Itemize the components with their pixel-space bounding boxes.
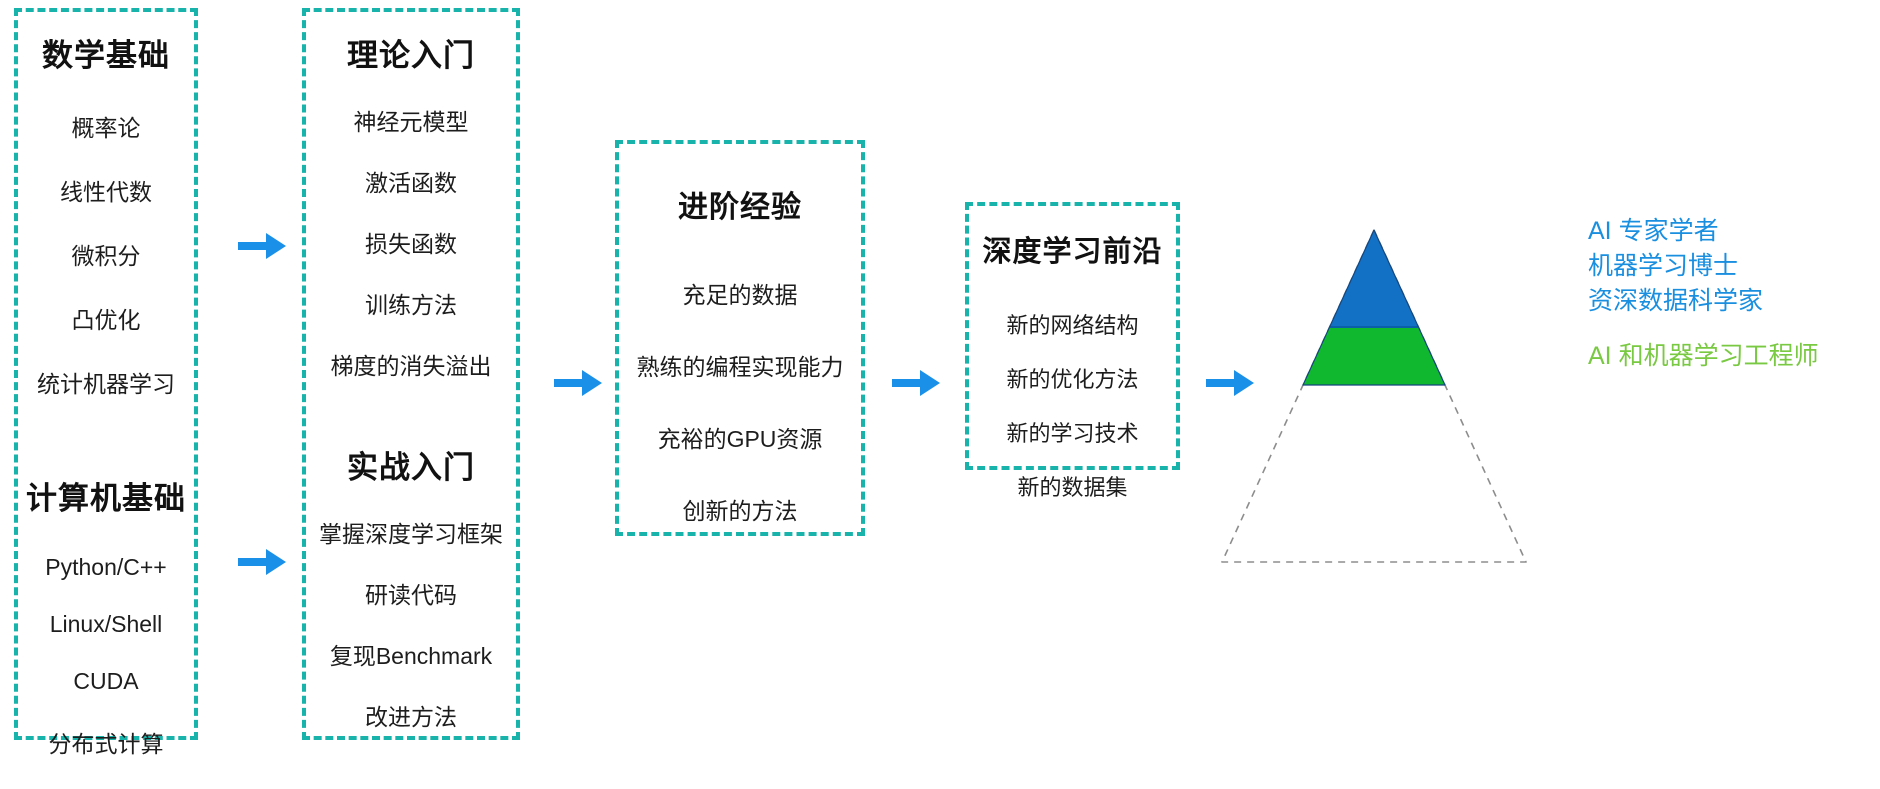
group-title-math: 数学基础 (42, 30, 170, 75)
stage-box-advanced[interactable]: 进阶经验 充足的数据 熟练的编程实现能力 充裕的GPU资源 创新的方法 (615, 140, 865, 536)
list-item: 充裕的GPU资源 (658, 420, 823, 454)
arrow-right-icon (552, 363, 604, 403)
role-label: AI 和机器学习工程师 (1588, 339, 1878, 374)
role-label: 资深数据科学家 (1588, 284, 1878, 319)
list-item: 线性代数 (60, 173, 152, 207)
list-item: 新的优化方法 (1006, 362, 1138, 394)
group-theory-intro: 理论入门 神经元模型 激活函数 损失函数 训练方法 梯度的消失溢出 (306, 30, 516, 408)
group-title-theory: 理论入门 (347, 30, 475, 75)
arrow-right-icon (236, 226, 288, 266)
list-item: 训练方法 (365, 286, 457, 320)
group-math-foundation: 数学基础 概率论 线性代数 微积分 凸优化 统计机器学习 (18, 30, 194, 429)
list-item: CUDA (73, 668, 138, 695)
list-item: 神经元模型 (354, 103, 469, 137)
arrow-right-icon (890, 363, 942, 403)
list-item: 研读代码 (365, 576, 457, 610)
list-item: 创新的方法 (683, 492, 798, 526)
list-item: 新的网络结构 (1006, 308, 1138, 340)
list-item: 概率论 (72, 109, 141, 143)
group-title-advanced: 进阶经验 (678, 182, 802, 226)
group-cs-foundation: 计算机基础 Python/C++ Linux/Shell CUDA 分布式计算 (18, 473, 194, 789)
list-item: 损失函数 (365, 225, 457, 259)
list-item: 新的学习技术 (1006, 416, 1138, 448)
stage-box-foundation[interactable]: 数学基础 概率论 线性代数 微积分 凸优化 统计机器学习 计算机基础 Pytho… (14, 8, 198, 740)
group-title-practice: 实战入门 (347, 442, 475, 487)
group-practice-intro: 实战入门 掌握深度学习框架 研读代码 复现Benchmark 改进方法 (306, 442, 516, 759)
list-item: 复现Benchmark (330, 637, 492, 671)
role-label: 机器学习博士 (1588, 249, 1878, 284)
list-item: 统计机器学习 (37, 365, 175, 399)
arrow-right-icon (236, 542, 288, 582)
list-item: 微积分 (72, 237, 141, 271)
list-item: 熟练的编程实现能力 (637, 348, 844, 382)
stage-box-frontier[interactable]: 深度学习前沿 新的网络结构 新的优化方法 新的学习技术 新的数据集 (965, 202, 1180, 470)
list-item: 分布式计算 (49, 725, 164, 759)
role-group-engineer: AI 和机器学习工程师 (1588, 339, 1878, 374)
list-item: 改进方法 (365, 698, 457, 732)
list-item: 梯度的消失溢出 (331, 347, 492, 381)
role-label: AI 专家学者 (1588, 214, 1878, 249)
stage-box-intro[interactable]: 理论入门 神经元模型 激活函数 损失函数 训练方法 梯度的消失溢出 实战入门 掌… (302, 8, 520, 740)
list-item: Linux/Shell (50, 611, 163, 638)
diagram-canvas: 数学基础 概率论 线性代数 微积分 凸优化 统计机器学习 计算机基础 Pytho… (0, 0, 1880, 760)
list-item: 新的数据集 (1017, 470, 1127, 502)
outcome-role-labels: AI 专家学者 机器学习博士 资深数据科学家 AI 和机器学习工程师 (1588, 214, 1878, 374)
group-title-frontier: 深度学习前沿 (982, 228, 1162, 270)
group-title-cs: 计算机基础 (26, 473, 186, 518)
list-item: 充足的数据 (683, 276, 798, 310)
list-item: 凸优化 (72, 301, 141, 335)
list-item: 激活函数 (365, 164, 457, 198)
list-item: 掌握深度学习框架 (319, 515, 503, 549)
outcome-pyramid (1216, 222, 1532, 572)
list-item: Python/C++ (45, 554, 166, 581)
role-group-expert: AI 专家学者 机器学习博士 资深数据科学家 (1588, 214, 1878, 319)
